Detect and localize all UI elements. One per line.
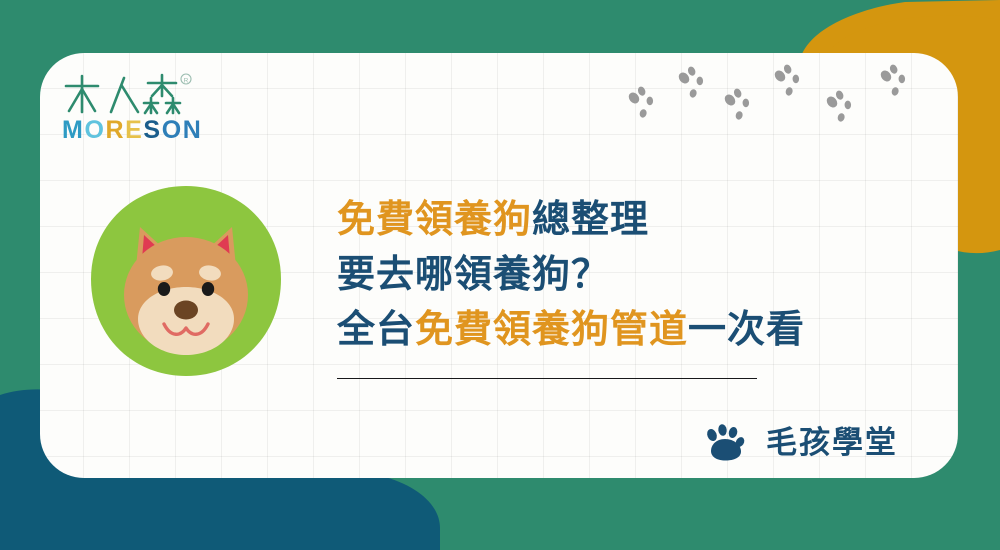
headline-segment: 一次看 [688, 307, 805, 351]
paw-print-icon [703, 421, 747, 465]
headline-segment: 總整理 [532, 197, 649, 241]
dog-eye-right [202, 282, 214, 296]
headline-segment: 免費領養狗管道 [415, 307, 688, 351]
headline-segment: 全台 [337, 307, 415, 351]
logo-wordmark-letter: M [62, 116, 84, 144]
headline-line-2: 要去哪領養狗？ [337, 247, 897, 302]
dog-nose [174, 301, 198, 320]
paw-prints-decor [620, 60, 930, 130]
dog-eye-left [158, 282, 170, 296]
svg-text:R: R [184, 77, 189, 84]
logo-wordmark-letter: E [125, 116, 143, 144]
logo-wordmark-letter: S [143, 116, 161, 144]
headline-segment: 免費領養狗 [337, 197, 532, 241]
logo-wordmark-letter: N [183, 116, 203, 144]
headline-segment: 要去哪領養狗？ [337, 252, 610, 296]
brand-lockup[interactable]: 毛孩學堂 [703, 421, 898, 465]
headline-divider [337, 378, 757, 379]
logo-wordmark: MORESON [62, 118, 212, 143]
logo-wordmark-letter: R [105, 116, 125, 144]
logo-chinese-mark-icon: R [62, 72, 194, 116]
logo-wordmark-letter: O [84, 116, 105, 144]
banner-canvas: R MORESON [0, 0, 1000, 550]
brand-label: 毛孩學堂 [766, 428, 898, 459]
headline-line-3: 全台免費領養狗管道一次看 [337, 302, 897, 357]
shiba-inu-dog-face-illustration [88, 183, 284, 379]
headline-block: 免費領養狗總整理 要去哪領養狗？ 全台免費領養狗管道一次看 [337, 192, 897, 357]
headline-line-1: 免費領養狗總整理 [337, 192, 897, 247]
logo-wordmark-letter: O [162, 116, 183, 144]
paw-print-icon [625, 62, 910, 126]
moreson-logo[interactable]: R MORESON [62, 72, 212, 143]
